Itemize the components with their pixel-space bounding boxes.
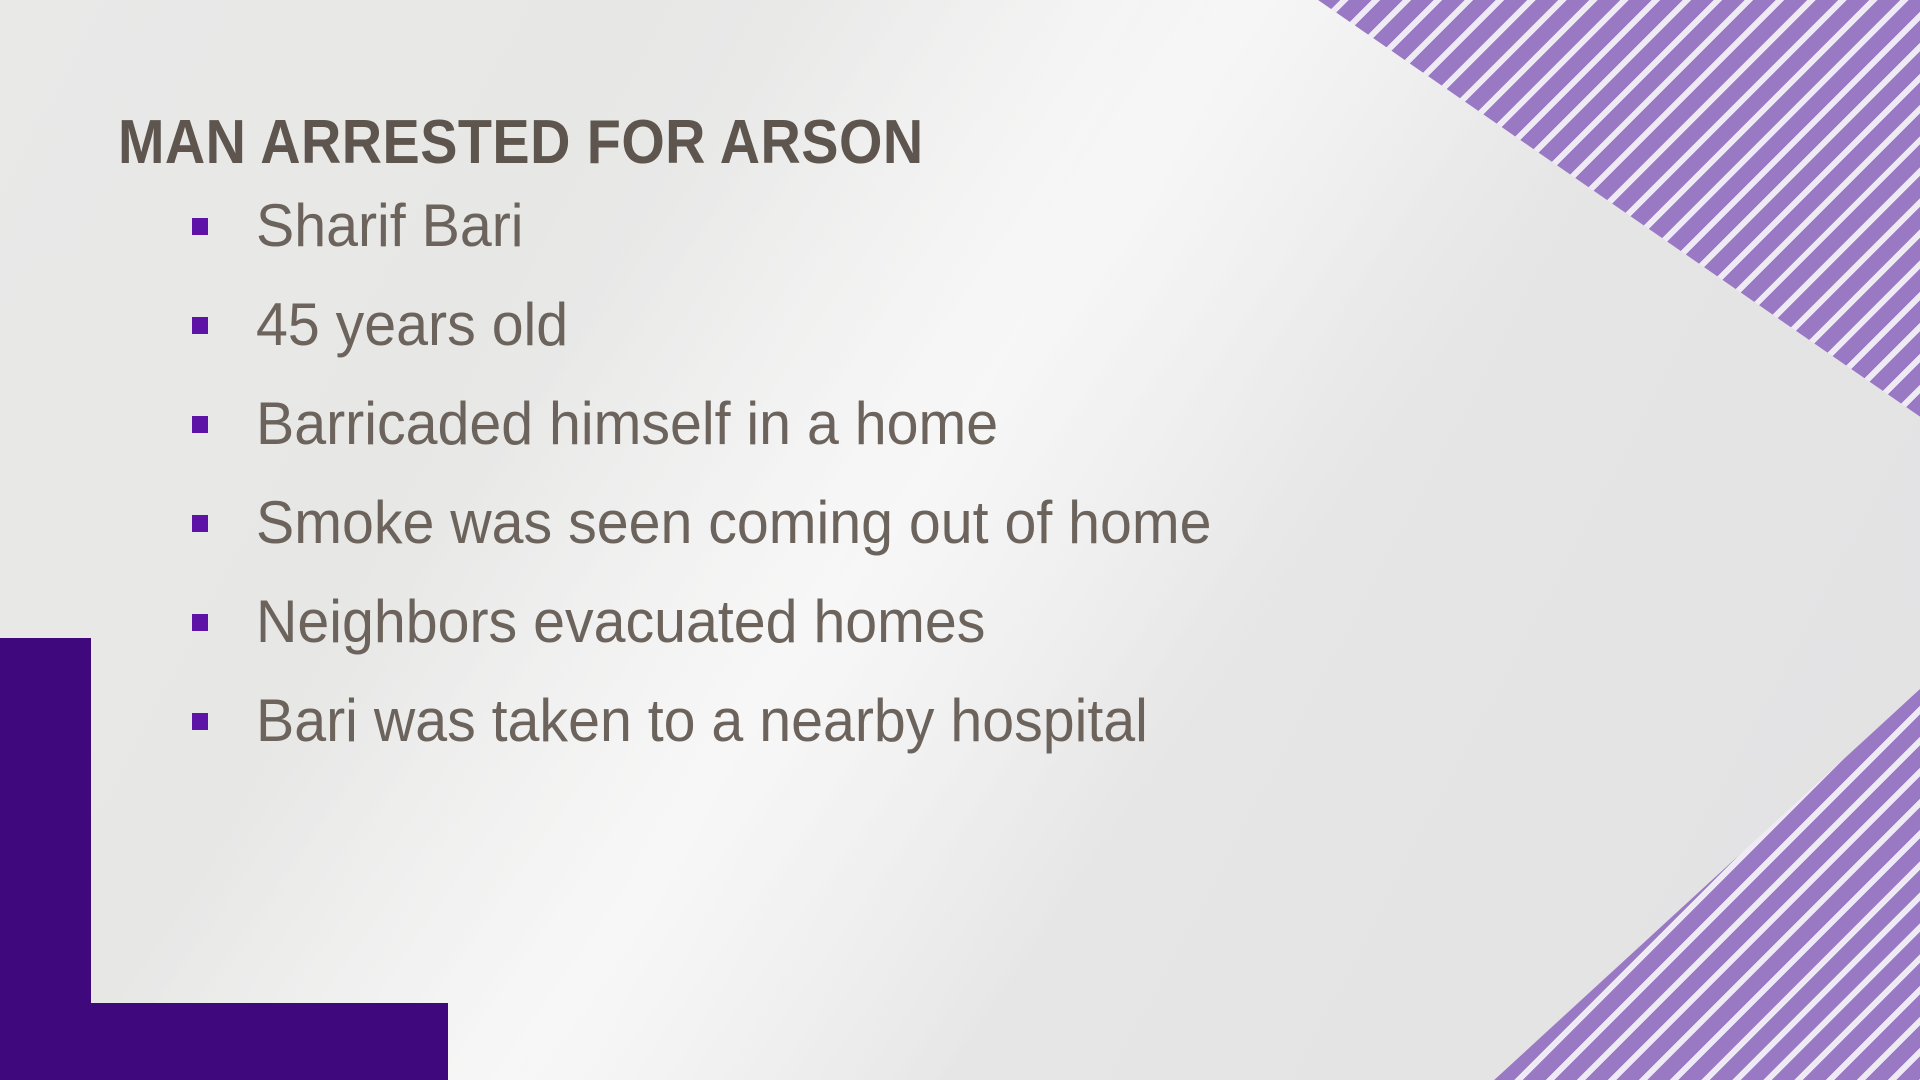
bullet-item-label: Bari was taken to a nearby hospital	[256, 689, 1148, 752]
bullet-list-item: 45 years old	[190, 275, 1590, 374]
square-bullet-icon	[192, 218, 208, 235]
square-bullet-icon	[192, 713, 208, 730]
bullet-item-label: Barricaded himself in a home	[256, 392, 998, 455]
square-bullet-icon	[192, 515, 208, 532]
bullet-list-item: Smoke was seen coming out of home	[190, 473, 1590, 572]
bullet-list-item: Bari was taken to a nearby hospital	[190, 671, 1590, 770]
slide-title: MAN ARRESTED FOR ARSON	[118, 112, 924, 174]
bullet-list: Sharif Bari 45 years old Barricaded hims…	[190, 176, 1590, 770]
bullet-item-label: Smoke was seen coming out of home	[256, 491, 1212, 554]
square-bullet-icon	[192, 416, 208, 433]
bullet-list-item: Neighbors evacuated homes	[190, 572, 1590, 671]
bullet-list-item: Sharif Bari	[190, 176, 1590, 275]
bullet-item-label: 45 years old	[256, 293, 568, 356]
bullet-item-label: Sharif Bari	[256, 194, 524, 257]
slide-content: MAN ARRESTED FOR ARSON Sharif Bari 45 ye…	[0, 0, 1920, 1080]
square-bullet-icon	[192, 614, 208, 631]
presentation-slide: MAN ARRESTED FOR ARSON Sharif Bari 45 ye…	[0, 0, 1920, 1080]
bullet-item-label: Neighbors evacuated homes	[256, 590, 985, 653]
square-bullet-icon	[192, 317, 208, 334]
bullet-list-item: Barricaded himself in a home	[190, 374, 1590, 473]
